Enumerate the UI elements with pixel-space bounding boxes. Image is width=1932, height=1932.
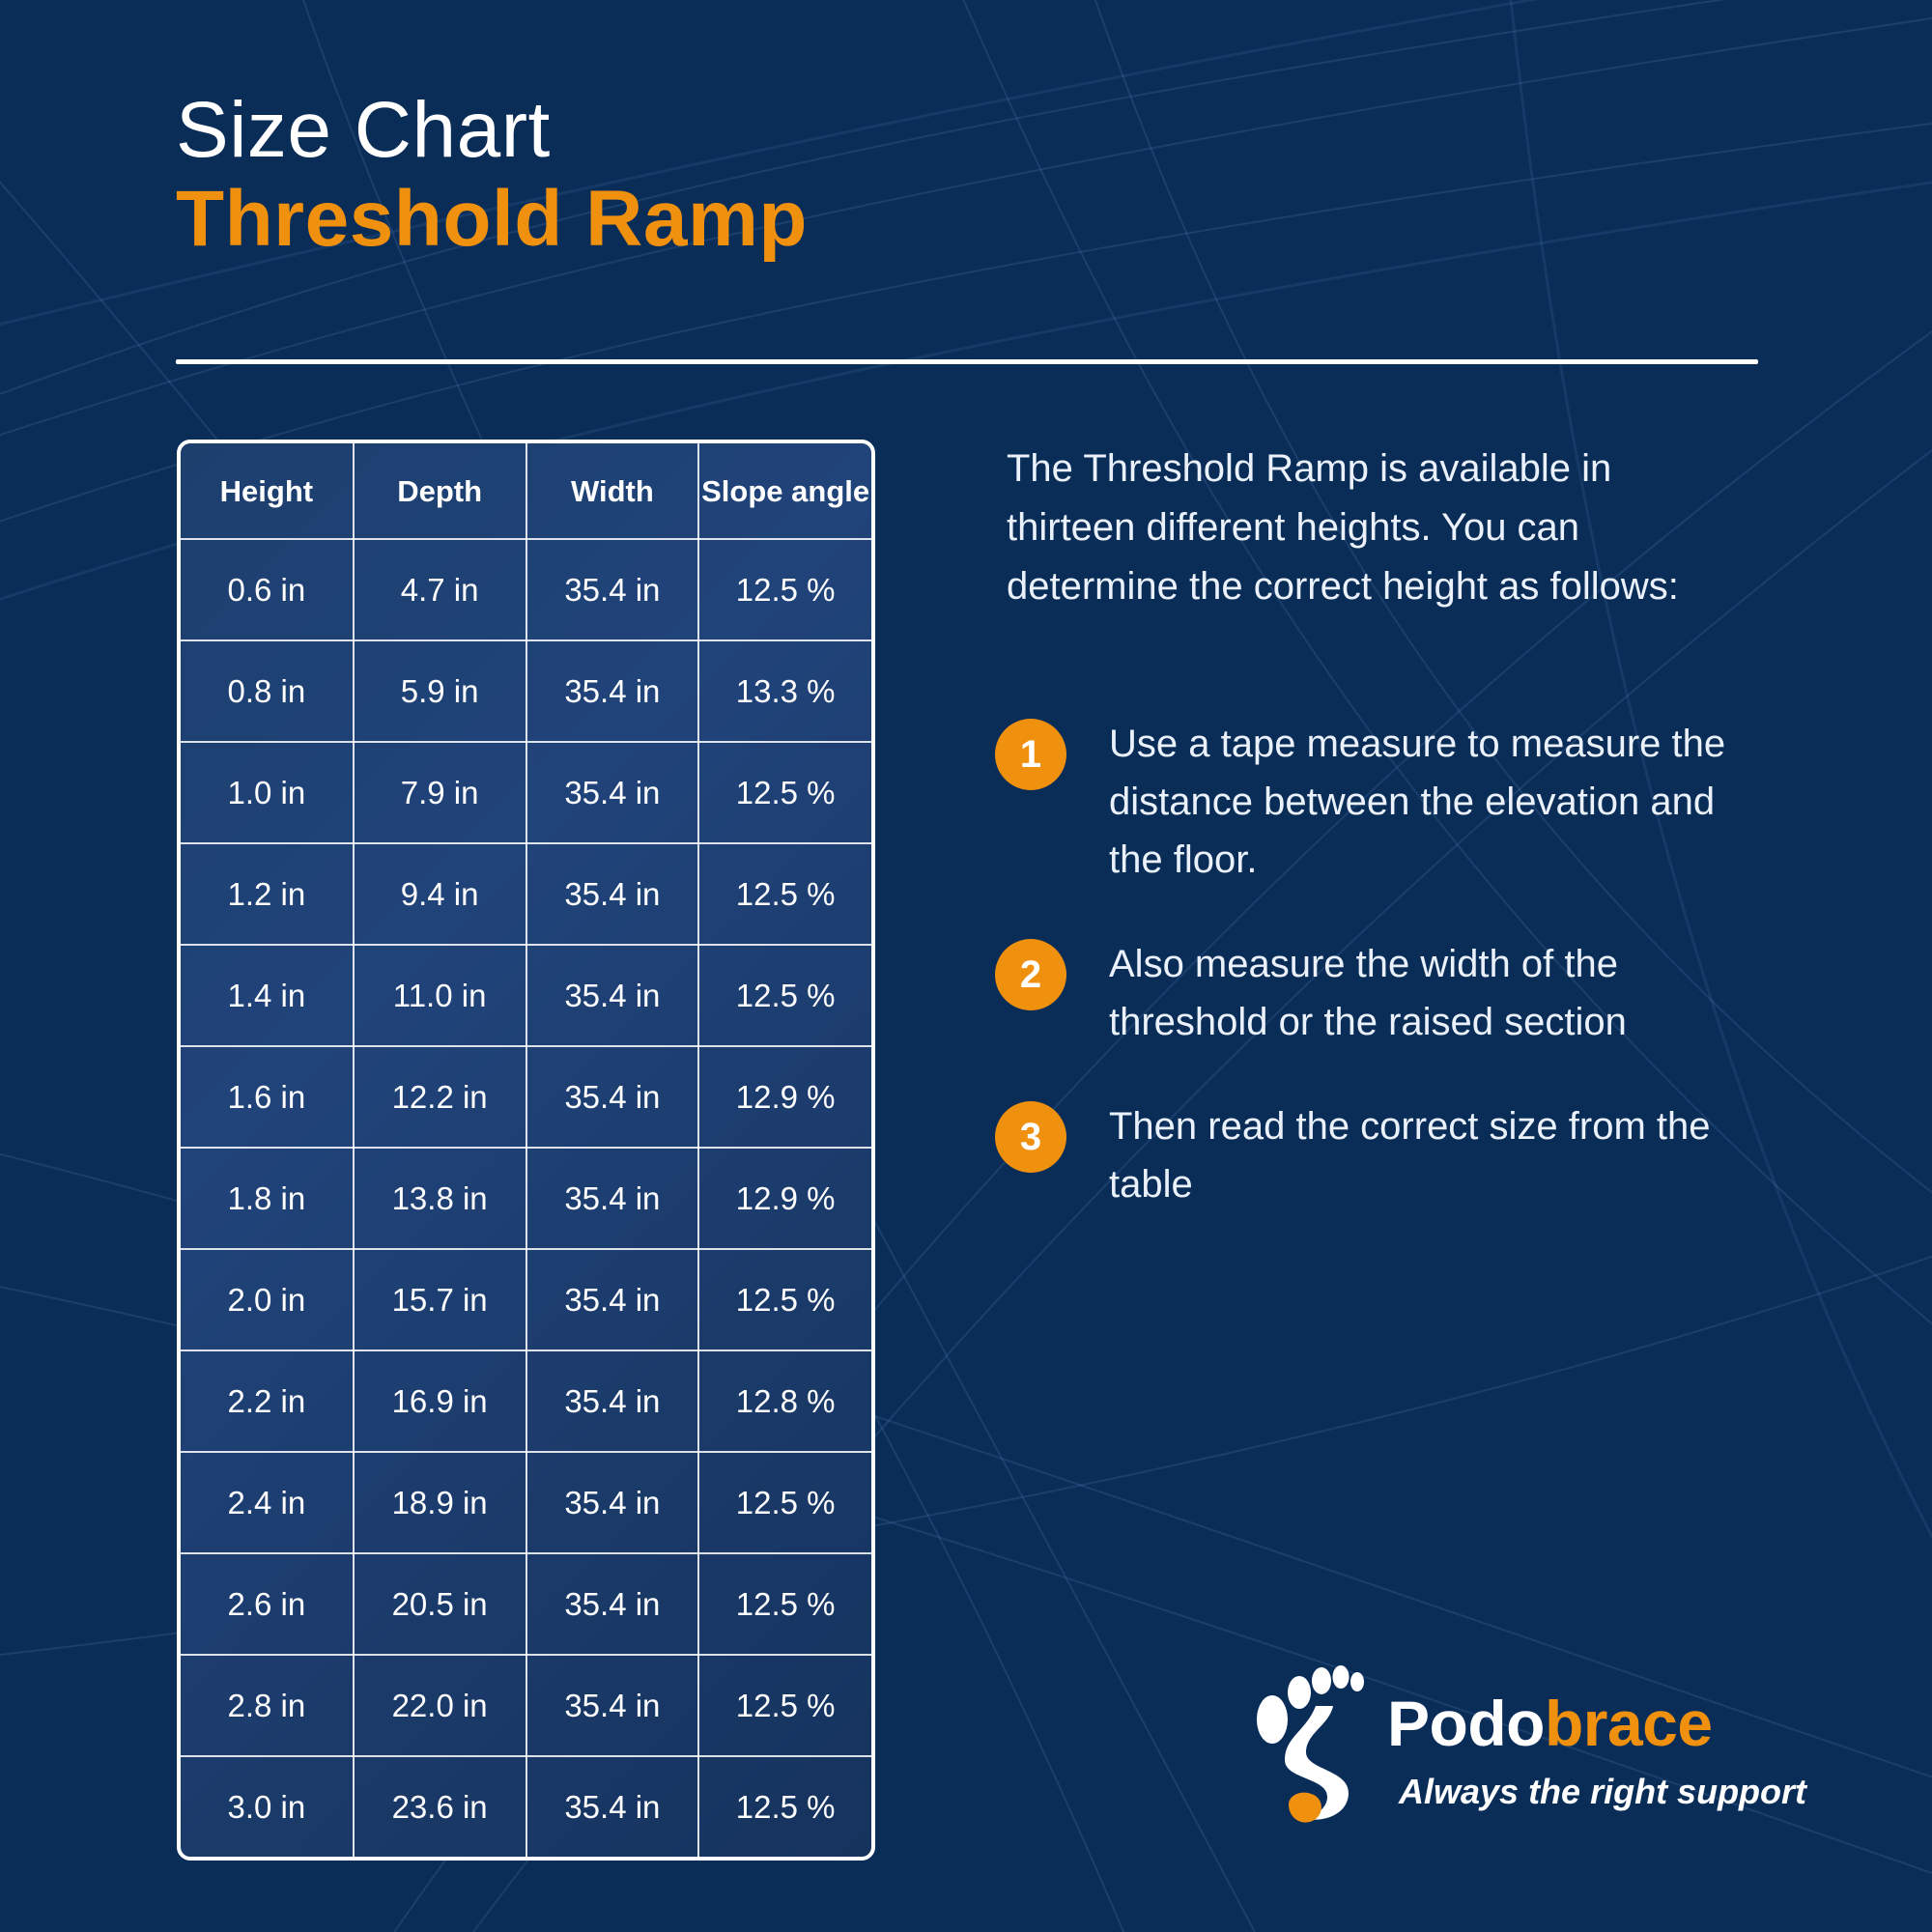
- table-row: 0.6 in4.7 in35.4 in12.5 %: [181, 539, 871, 640]
- table-cell: 11.0 in: [354, 945, 526, 1046]
- step-number-badge: 3: [995, 1101, 1066, 1173]
- steps-list: 1Use a tape measure to measure the dista…: [995, 715, 1768, 1260]
- table-cell: 12.5 %: [698, 945, 871, 1046]
- table-row: 2.6 in20.5 in35.4 in12.5 %: [181, 1553, 871, 1655]
- table-cell: 23.6 in: [354, 1756, 526, 1857]
- size-chart-table-container: Height Depth Width Slope angle 0.6 in4.7…: [177, 440, 875, 1861]
- table-cell: 2.6 in: [181, 1553, 354, 1655]
- table-cell: 35.4 in: [526, 539, 699, 640]
- table-cell: 12.9 %: [698, 1148, 871, 1249]
- table-cell: 9.4 in: [354, 843, 526, 945]
- column-header-width: Width: [526, 443, 699, 539]
- table-cell: 2.4 in: [181, 1452, 354, 1553]
- table-cell: 35.4 in: [526, 640, 699, 742]
- table-cell: 35.4 in: [526, 843, 699, 945]
- table-cell: 35.4 in: [526, 1553, 699, 1655]
- table-cell: 13.3 %: [698, 640, 871, 742]
- table-cell: 20.5 in: [354, 1553, 526, 1655]
- table-cell: 1.0 in: [181, 742, 354, 843]
- table-body: 0.6 in4.7 in35.4 in12.5 %0.8 in5.9 in35.…: [181, 539, 871, 1857]
- table-cell: 3.0 in: [181, 1756, 354, 1857]
- step-item: 1Use a tape measure to measure the dista…: [995, 715, 1768, 889]
- step-number-badge: 2: [995, 939, 1066, 1010]
- table-cell: 12.8 %: [698, 1350, 871, 1452]
- table-cell: 35.4 in: [526, 945, 699, 1046]
- logo-wordmark: Podobrace: [1387, 1687, 1713, 1760]
- step-item: 3Then read the correct size from the tab…: [995, 1097, 1768, 1213]
- table-cell: 35.4 in: [526, 1350, 699, 1452]
- table-cell: 1.2 in: [181, 843, 354, 945]
- table-cell: 35.4 in: [526, 1452, 699, 1553]
- table-cell: 12.5 %: [698, 1756, 871, 1857]
- table-row: 2.2 in16.9 in35.4 in12.8 %: [181, 1350, 871, 1452]
- table-cell: 2.8 in: [181, 1655, 354, 1756]
- table-cell: 5.9 in: [354, 640, 526, 742]
- table-cell: 35.4 in: [526, 1249, 699, 1350]
- table-cell: 1.6 in: [181, 1046, 354, 1148]
- table-row: 1.4 in11.0 in35.4 in12.5 %: [181, 945, 871, 1046]
- infographic-page: Size Chart Threshold Ramp Height Depth W…: [0, 0, 1932, 1932]
- table-cell: 12.5 %: [698, 539, 871, 640]
- step-item: 2Also measure the width of the threshold…: [995, 935, 1768, 1051]
- table-cell: 0.8 in: [181, 640, 354, 742]
- table-cell: 12.9 %: [698, 1046, 871, 1148]
- table-head: Height Depth Width Slope angle: [181, 443, 871, 539]
- page-header: Size Chart Threshold Ramp: [176, 89, 1760, 263]
- table-cell: 1.4 in: [181, 945, 354, 1046]
- column-header-height: Height: [181, 443, 354, 539]
- table-cell: 35.4 in: [526, 1046, 699, 1148]
- table-cell: 15.7 in: [354, 1249, 526, 1350]
- step-text: Also measure the width of the threshold …: [1109, 935, 1727, 1051]
- table-row: 2.8 in22.0 in35.4 in12.5 %: [181, 1655, 871, 1756]
- table-row: 1.0 in7.9 in35.4 in12.5 %: [181, 742, 871, 843]
- logo-word-podo: Podo: [1387, 1688, 1545, 1759]
- header-divider: [176, 359, 1758, 364]
- table-cell: 4.7 in: [354, 539, 526, 640]
- table-cell: 12.5 %: [698, 742, 871, 843]
- table-cell: 12.5 %: [698, 1452, 871, 1553]
- table-cell: 12.2 in: [354, 1046, 526, 1148]
- table-row: 0.8 in5.9 in35.4 in13.3 %: [181, 640, 871, 742]
- table-header-row: Height Depth Width Slope angle: [181, 443, 871, 539]
- table-cell: 12.5 %: [698, 1249, 871, 1350]
- table-cell: 2.2 in: [181, 1350, 354, 1452]
- table-cell: 35.4 in: [526, 1148, 699, 1249]
- step-text: Then read the correct size from the tabl…: [1109, 1097, 1727, 1213]
- table-cell: 7.9 in: [354, 742, 526, 843]
- table-cell: 16.9 in: [354, 1350, 526, 1452]
- table-cell: 1.8 in: [181, 1148, 354, 1249]
- table-row: 2.0 in15.7 in35.4 in12.5 %: [181, 1249, 871, 1350]
- intro-paragraph: The Threshold Ramp is available in thirt…: [1007, 440, 1750, 616]
- column-header-depth: Depth: [354, 443, 526, 539]
- podobrace-logo: Podobrace Always the right support: [1256, 1660, 1777, 1838]
- footprint-icon: [1256, 1660, 1372, 1829]
- logo-tagline: Always the right support: [1399, 1772, 1806, 1812]
- table-row: 1.8 in13.8 in35.4 in12.9 %: [181, 1148, 871, 1249]
- table-cell: 35.4 in: [526, 1655, 699, 1756]
- table-cell: 0.6 in: [181, 539, 354, 640]
- step-number-badge: 1: [995, 719, 1066, 790]
- table-cell: 12.5 %: [698, 1553, 871, 1655]
- table-cell: 22.0 in: [354, 1655, 526, 1756]
- table-cell: 12.5 %: [698, 1655, 871, 1756]
- table-row: 1.2 in9.4 in35.4 in12.5 %: [181, 843, 871, 945]
- size-chart-table: Height Depth Width Slope angle 0.6 in4.7…: [181, 443, 871, 1857]
- table-cell: 35.4 in: [526, 1756, 699, 1857]
- page-title-secondary: Threshold Ramp: [176, 176, 1760, 263]
- column-header-slope-angle: Slope angle: [698, 443, 871, 539]
- table-cell: 13.8 in: [354, 1148, 526, 1249]
- table-cell: 2.0 in: [181, 1249, 354, 1350]
- logo-word-brace: brace: [1545, 1688, 1713, 1759]
- table-cell: 12.5 %: [698, 843, 871, 945]
- table-cell: 35.4 in: [526, 742, 699, 843]
- table-cell: 18.9 in: [354, 1452, 526, 1553]
- table-row: 3.0 in23.6 in35.4 in12.5 %: [181, 1756, 871, 1857]
- page-title-primary: Size Chart: [176, 89, 1760, 172]
- step-text: Use a tape measure to measure the distan…: [1109, 715, 1727, 889]
- table-row: 1.6 in12.2 in35.4 in12.9 %: [181, 1046, 871, 1148]
- table-row: 2.4 in18.9 in35.4 in12.5 %: [181, 1452, 871, 1553]
